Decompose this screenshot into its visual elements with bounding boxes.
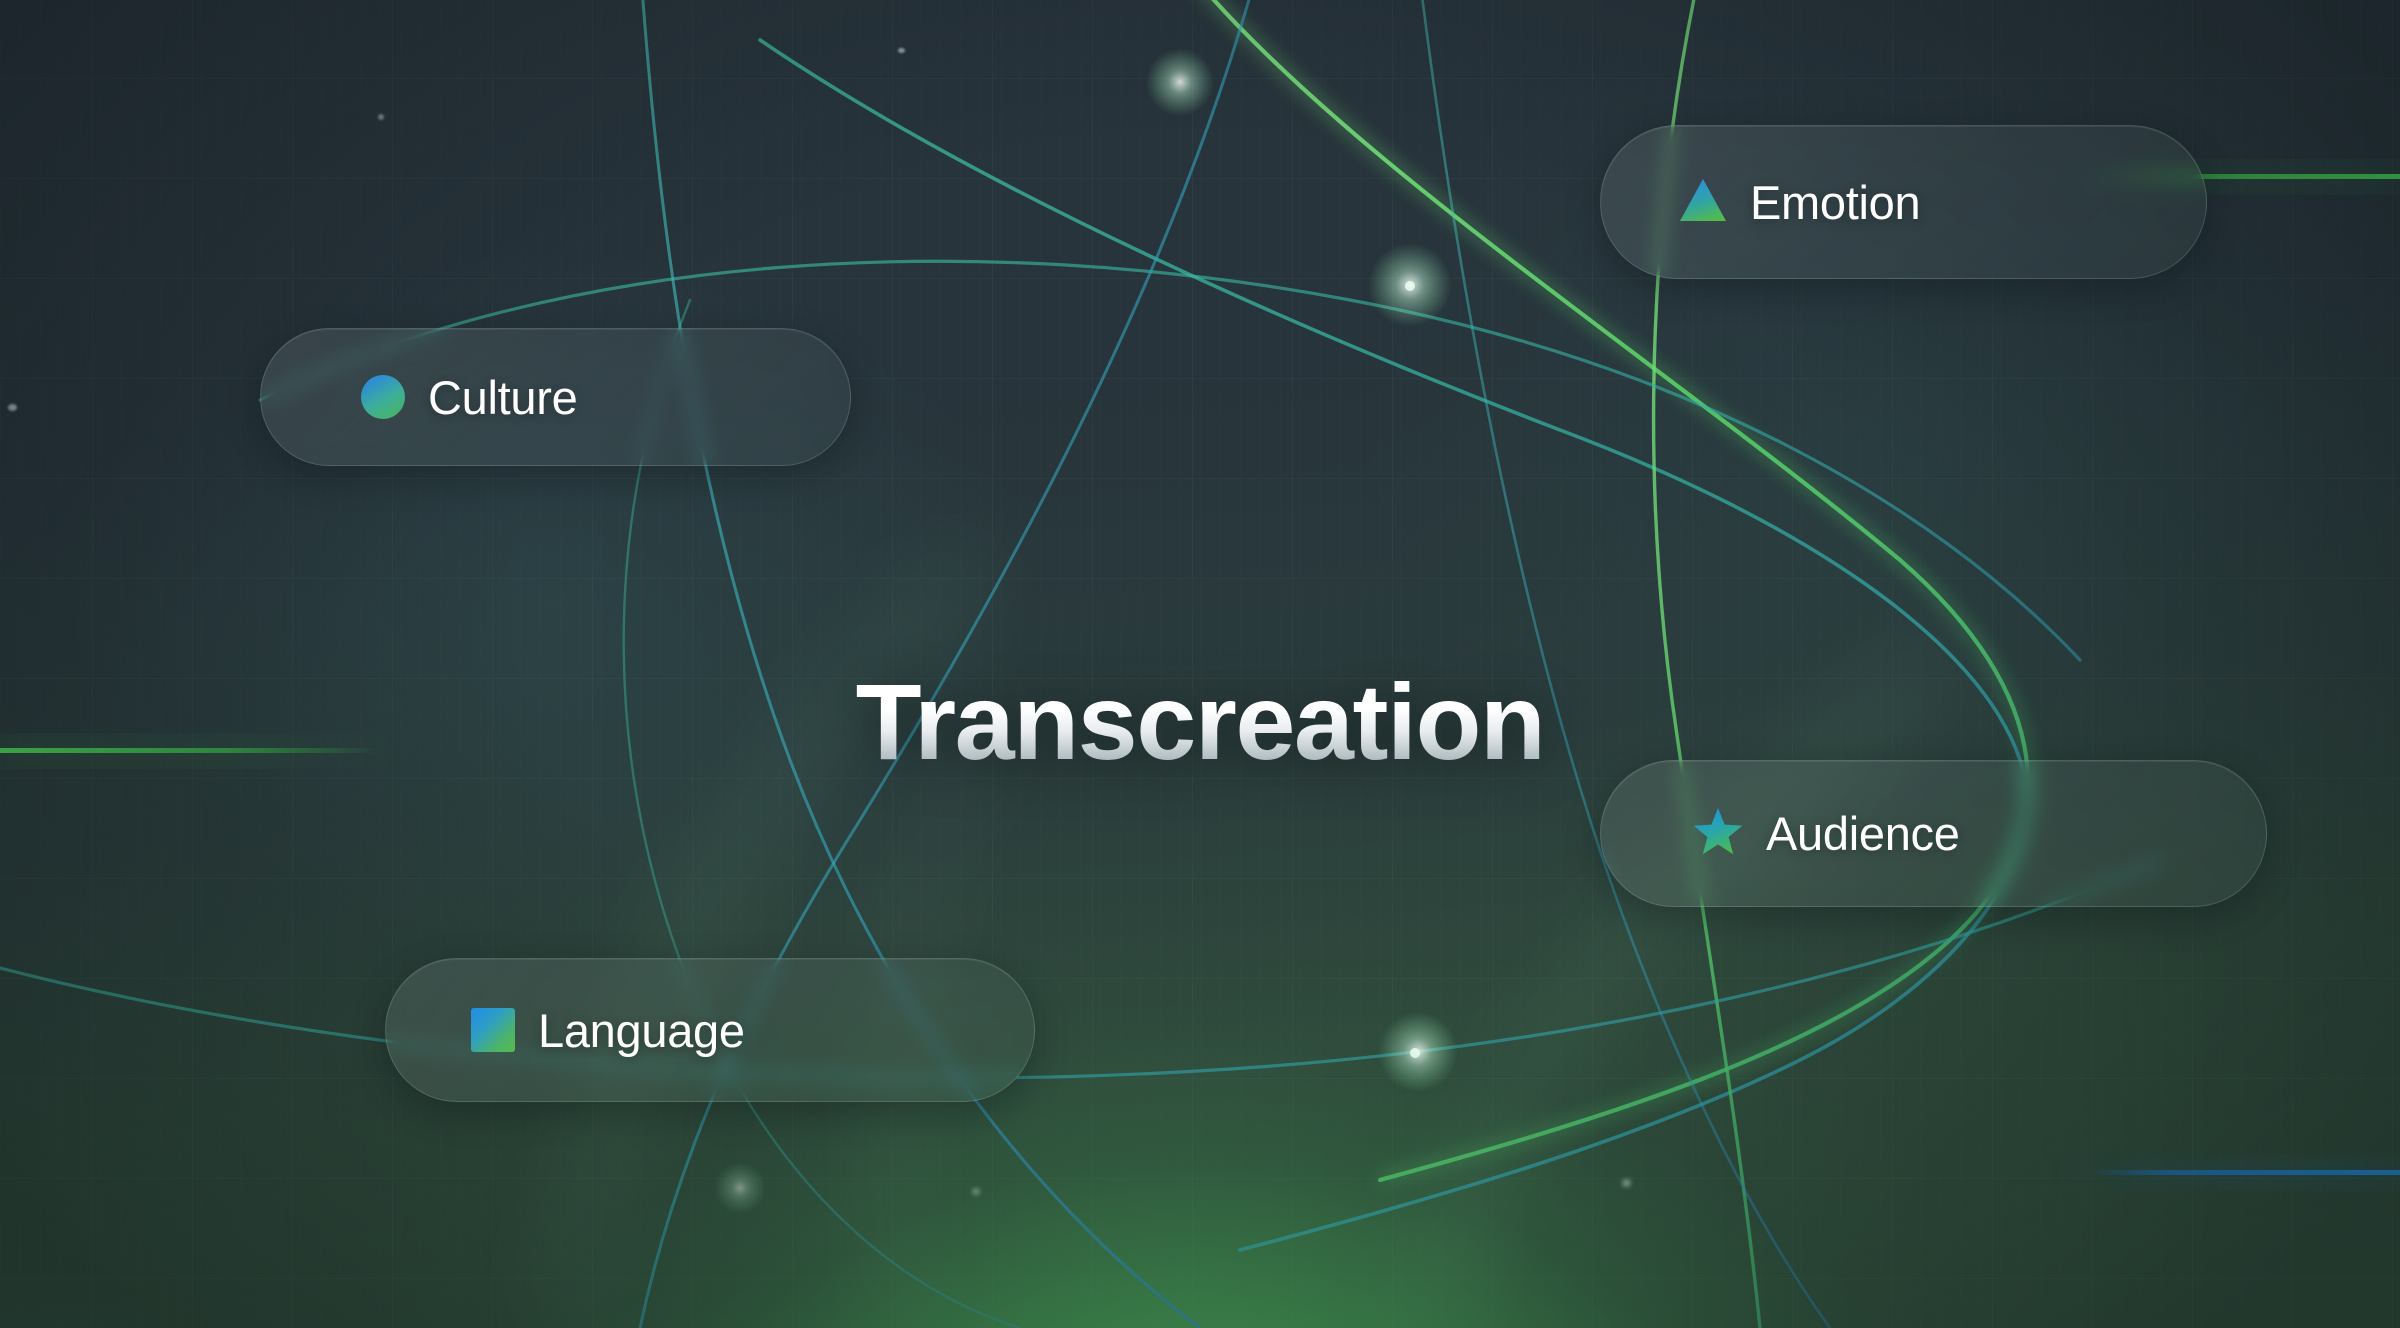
concept-pill-label: Culture — [428, 370, 577, 425]
triangle-icon — [1679, 178, 1727, 227]
concept-pill-language[interactable]: Language — [385, 958, 1035, 1102]
concept-pill-label: Emotion — [1750, 175, 1920, 230]
dust-speck — [972, 1188, 980, 1195]
hero-canvas: Transcreation Emotion Culture — [0, 0, 2400, 1328]
concept-pill-audience[interactable]: Audience — [1600, 760, 2267, 907]
circle-icon — [361, 375, 405, 419]
concept-pill-emotion[interactable]: Emotion — [1600, 125, 2207, 279]
dust-speck — [898, 48, 905, 53]
concept-pill-culture[interactable]: Culture — [260, 328, 851, 466]
concept-pill-label: Language — [538, 1003, 745, 1058]
dust-speck — [378, 114, 384, 120]
star-icon — [1693, 807, 1743, 860]
dust-speck — [8, 404, 17, 411]
dust-speck — [1622, 1179, 1631, 1187]
concept-pill-label: Audience — [1766, 806, 1960, 861]
square-icon — [471, 1008, 515, 1052]
